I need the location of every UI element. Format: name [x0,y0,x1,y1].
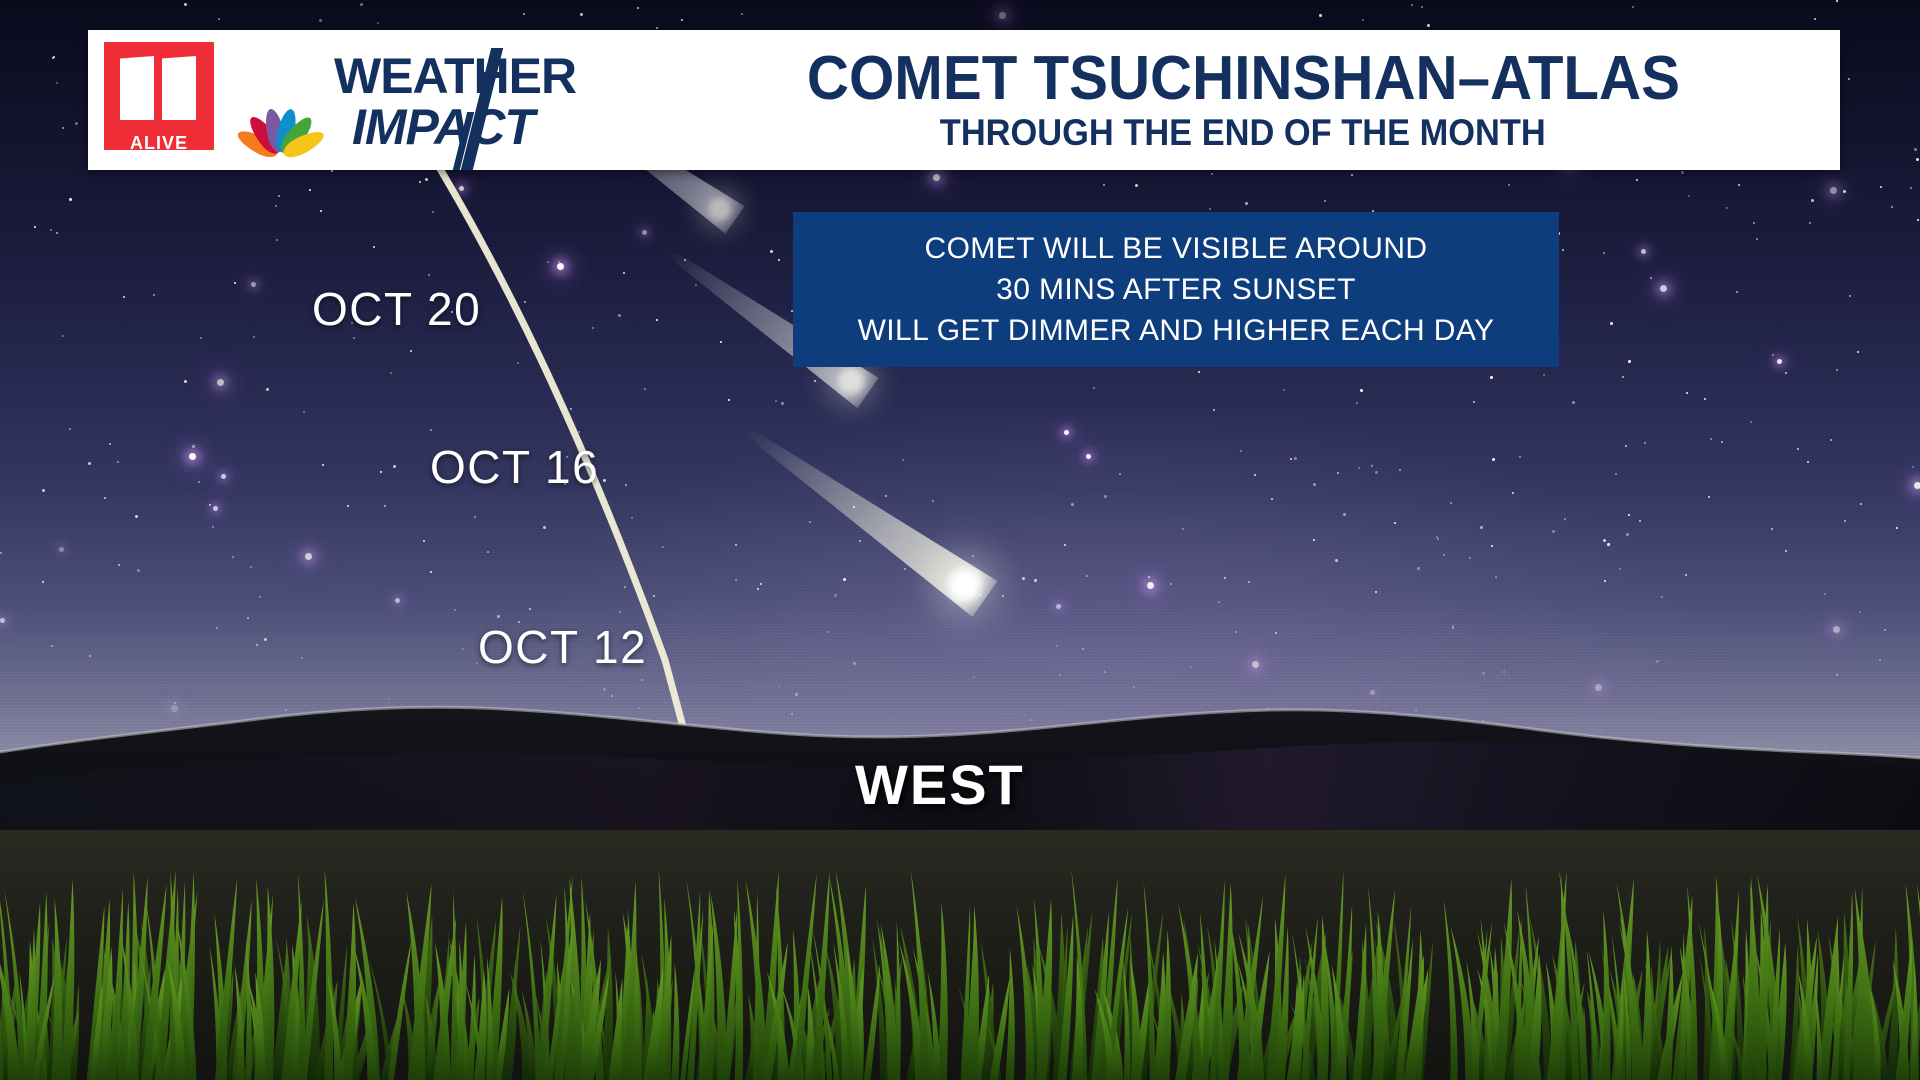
star [213,506,218,511]
star [1644,442,1646,444]
star [1480,526,1483,529]
star [256,644,258,646]
star [1859,611,1861,613]
star [454,609,456,611]
star [1375,471,1378,474]
star [1685,574,1687,576]
star [1704,398,1706,400]
star [384,505,386,507]
star [1271,498,1273,500]
star [1252,661,1259,668]
star [580,13,583,16]
star [135,515,138,518]
star [373,246,375,248]
star [305,553,312,560]
grass-blade [1601,910,1610,1080]
info-callout-box: COMET WILL BE VISIBLE AROUND 30 MINS AFT… [793,212,1559,367]
date-label-oct-20: OCT 20 [312,282,481,336]
star [1452,625,1454,627]
star [1245,202,1248,205]
star [757,588,759,590]
star [1785,372,1787,374]
star [741,13,743,15]
star [1034,579,1037,582]
star [1777,359,1782,364]
star [1656,660,1659,663]
star [59,547,64,552]
info-line-2: 30 MINS AFTER SUNSET [996,269,1356,310]
star [1636,179,1638,181]
star [770,250,773,253]
star [1104,671,1106,673]
star [1064,430,1069,435]
star [1371,465,1373,467]
star [1290,458,1292,460]
star [377,22,379,24]
star [623,272,625,274]
star [1641,249,1646,254]
star [497,615,500,618]
star [1562,249,1564,251]
star [117,461,119,463]
star [1681,171,1684,174]
page-subtitle: THROUGH THE END OF THE MONTH [940,113,1546,153]
star [999,12,1006,19]
star [1572,401,1575,404]
star [51,645,53,647]
star [1564,518,1566,520]
star [932,500,934,502]
star [0,618,5,623]
star [1495,576,1497,578]
star [1632,6,1634,8]
star [1552,530,1555,533]
star [1603,539,1606,542]
grass-blade [863,964,880,1080]
star [853,662,856,665]
star [253,336,255,338]
star [1119,473,1121,475]
star [1710,438,1712,440]
star [624,586,626,588]
star [1809,222,1811,224]
star [1771,528,1773,530]
star [1628,514,1630,516]
star [1628,360,1631,363]
star [264,638,267,641]
star [1836,369,1838,371]
star [656,27,658,29]
star [637,7,639,9]
logo-bar-left [120,56,154,120]
star [50,229,52,231]
star [62,127,64,129]
star [1313,483,1316,486]
star [1848,78,1850,80]
star [529,608,531,610]
star [1661,596,1663,598]
star [234,282,236,284]
star [53,56,55,58]
star [547,261,549,263]
star [1849,295,1851,297]
star [1721,441,1723,443]
star [625,484,627,486]
star [778,259,780,261]
star [1660,285,1667,292]
star [423,540,425,542]
star [1738,184,1740,186]
star [1503,671,1505,673]
star [1240,450,1242,452]
star [1512,492,1514,494]
star [1254,474,1256,476]
star [1452,627,1454,629]
star [1235,631,1237,633]
star [1519,456,1521,458]
star [1626,533,1629,536]
star [1625,445,1627,447]
grass-blade [1887,928,1899,1080]
star [276,239,278,241]
star [1148,576,1150,578]
star [1147,582,1154,589]
star [902,459,904,461]
star [1914,482,1920,489]
star [1170,583,1172,585]
star [1884,629,1886,631]
star [1607,543,1610,546]
star [34,226,36,228]
star [1224,577,1226,579]
star [425,178,428,181]
star [1337,472,1339,474]
star [1427,24,1430,27]
star [1294,457,1297,460]
star [0,552,2,554]
star [1543,374,1545,376]
star [1639,520,1641,522]
star [1064,544,1066,546]
grass-blade [324,869,333,1080]
star [62,335,64,337]
star [1417,567,1420,570]
star [523,13,525,15]
star [1351,174,1353,176]
star [619,611,621,613]
star [459,186,464,191]
star [1362,19,1364,21]
star [75,122,78,125]
star [524,301,526,303]
star [137,569,140,572]
11alive-logo-text: ALIVE [104,133,214,154]
star [1917,219,1919,221]
star [198,481,200,483]
star [380,471,382,473]
page-title: COMET TSUCHINSHAN–ATLAS [806,47,1679,111]
star [390,372,392,374]
star [266,388,269,391]
star [618,314,621,317]
star [735,544,737,546]
star [360,3,363,6]
star [1619,568,1621,570]
star [1394,522,1396,524]
star [1491,545,1493,547]
star [1056,645,1058,647]
star [104,497,106,499]
weather-impact-brand: WEATHER IMPACT [334,50,664,170]
weather-graphic-stage: OCT 20OCT 16OCT 12 [0,0,1920,1080]
star [200,337,202,339]
star [1421,6,1423,8]
star [42,581,44,583]
star [462,648,464,650]
star [1437,538,1439,540]
brand-word-impact: IMPACT [352,102,664,152]
star [1708,496,1710,498]
star [781,402,784,405]
star [631,517,633,519]
star [1411,4,1413,6]
grass-blade [671,963,680,1080]
star [1914,148,1917,151]
star [1811,199,1814,202]
star [1022,577,1025,580]
star [1910,187,1912,189]
star [428,274,430,276]
star [216,627,218,629]
star [1375,591,1377,593]
star [250,566,252,568]
star [973,676,975,678]
star [603,479,606,482]
star [347,505,349,507]
star [1071,503,1074,506]
star [184,380,187,383]
star [1736,291,1738,293]
star [843,578,846,581]
star [251,282,256,287]
star [720,341,722,343]
star [393,465,396,468]
star [153,294,155,296]
star [410,350,412,352]
star [644,388,646,390]
star [1343,513,1346,516]
star [1622,376,1624,378]
star [1283,389,1285,391]
star [1356,402,1358,404]
star [1198,371,1200,373]
star [218,18,220,20]
star [1313,539,1315,541]
star [42,489,45,492]
star [656,319,658,321]
star [578,431,580,433]
star [1450,502,1452,504]
star [1213,409,1215,411]
star [662,546,664,548]
star [192,445,195,448]
star [89,655,91,657]
star [1473,401,1475,403]
star [1135,184,1138,187]
star [109,443,111,445]
star [778,685,780,687]
title-block: COMET TSUCHINSHAN–ATLAS THROUGH THE END … [664,30,1840,170]
star [419,181,421,183]
star [1104,495,1107,498]
star [1218,601,1220,603]
star [303,411,305,413]
header-banner: ALIVE WEATHER IMPACT COMET TSUCHINSHAN–A… [88,30,1840,170]
star [320,210,322,212]
star [88,462,91,465]
star [1082,648,1084,650]
star [322,464,324,466]
star [1182,528,1184,530]
star [1807,461,1809,463]
star [1916,158,1919,161]
star [1857,351,1859,353]
star [221,474,226,479]
star [1830,187,1837,194]
star [1860,503,1862,505]
star [1211,173,1213,175]
star [56,82,58,84]
star [653,595,655,597]
star [681,19,683,21]
star [487,551,489,553]
star [728,399,730,401]
star [1650,277,1652,279]
star [1836,0,1838,2]
star [933,174,940,181]
star [1324,200,1326,202]
star [247,617,249,619]
star [331,170,333,172]
star [395,598,400,603]
star [217,379,224,386]
star [1610,322,1613,325]
star [1482,672,1485,675]
star [1753,222,1755,224]
info-line-3: WILL GET DIMMER AND HIGHER EACH DAY [858,310,1495,351]
star [517,362,519,364]
star [735,579,737,581]
star [259,596,261,598]
star [474,516,476,518]
star [1879,659,1881,661]
11alive-logo[interactable]: ALIVE [104,42,214,150]
star [1843,190,1846,193]
star [189,453,196,460]
star [1086,454,1091,459]
star [1891,206,1893,208]
star [1880,186,1882,188]
star [1686,392,1688,394]
star [1319,14,1322,17]
star [570,408,572,410]
star [1436,536,1438,538]
star [1604,580,1606,582]
star [1093,387,1095,389]
star [557,263,564,270]
star [209,504,211,506]
star [1824,593,1826,595]
star [301,657,303,659]
logo-bar-right [162,56,196,120]
star [1086,575,1088,577]
star [56,232,58,234]
star [1785,550,1787,552]
star [1358,467,1360,469]
star [1603,252,1605,254]
star [353,337,355,339]
star [543,526,546,529]
star [760,583,762,585]
star [1133,686,1135,688]
star [1844,520,1846,522]
star [278,195,280,197]
star [827,631,829,633]
star [1103,184,1105,186]
star [642,230,647,235]
star [1726,207,1728,209]
star [1360,389,1363,392]
star [1772,354,1774,356]
star [1190,666,1192,668]
star [1688,195,1690,197]
star [1059,674,1061,676]
date-label-oct-12: OCT 12 [478,620,647,674]
star [69,198,72,201]
star [1830,439,1832,441]
star [1508,184,1510,186]
date-label-oct-16: OCT 16 [430,440,599,494]
star [275,205,277,207]
nbc-peacock-logo [228,64,324,148]
star [1002,595,1004,597]
star [834,594,837,597]
star [1912,466,1914,468]
star [1399,469,1401,471]
star [1750,421,1752,423]
star [1469,557,1471,559]
star [430,571,432,573]
star [1490,376,1493,379]
star [641,679,643,681]
star [212,526,214,528]
star [1335,559,1338,562]
star [232,556,234,558]
star [1056,604,1061,609]
star [69,428,71,430]
direction-label-west: WEST [855,752,1025,817]
star [1443,554,1445,556]
star [1814,18,1816,20]
star [319,19,322,22]
star [1248,581,1250,583]
star [1797,448,1799,450]
star [432,211,434,213]
star [309,189,311,191]
info-line-1: COMET WILL BE VISIBLE AROUND [925,228,1428,269]
star [1615,473,1617,475]
star [123,296,125,298]
